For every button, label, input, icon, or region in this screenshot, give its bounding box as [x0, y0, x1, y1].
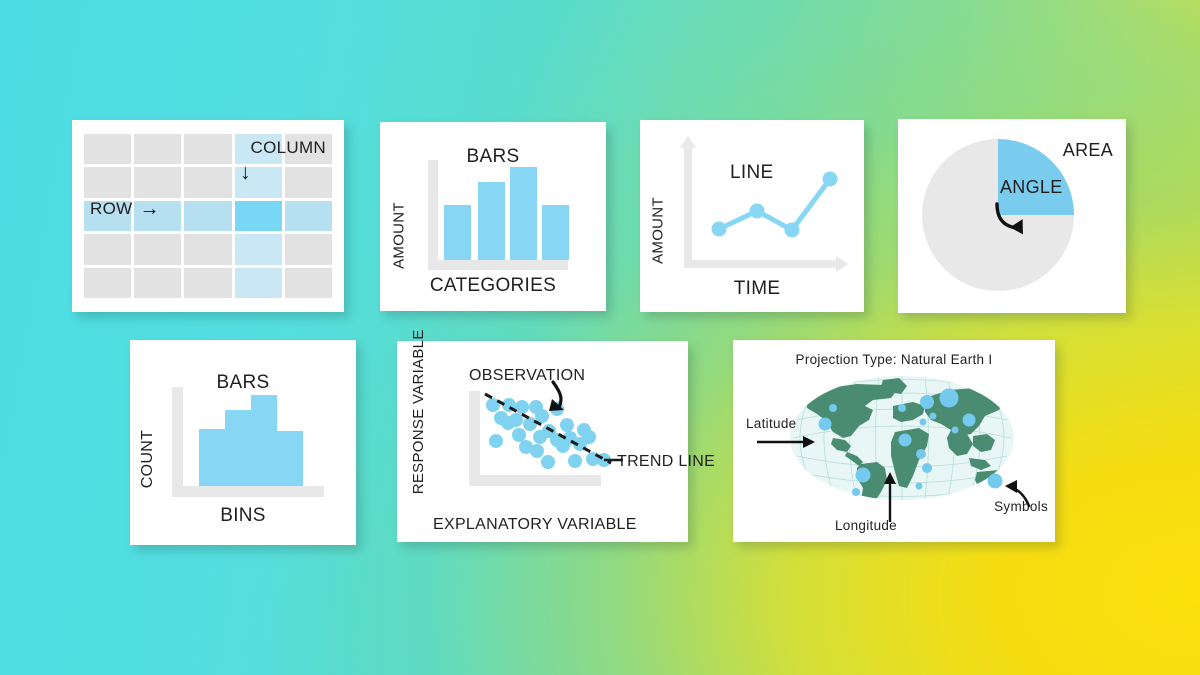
panel-table-anatomy: COLUMN ↓ ROW →	[72, 120, 344, 312]
bars-plot-area	[438, 160, 568, 260]
line-series	[719, 179, 830, 230]
panel-line-chart-anatomy: AMOUNT LINE TIME	[640, 120, 864, 312]
table-cell	[134, 134, 181, 164]
table-cell	[235, 201, 282, 231]
bars-x-axis	[428, 260, 568, 270]
table-cell	[134, 268, 181, 298]
map-symbols-label: Symbols	[994, 499, 1048, 514]
table-cell	[285, 234, 332, 264]
table-cell	[184, 134, 231, 164]
bars-y-axis-label: AMOUNT	[391, 181, 408, 291]
bar-1	[444, 205, 471, 260]
scatter-points	[486, 398, 611, 469]
panel-bar-chart-anatomy: BARS AMOUNT CATEGORIES	[380, 122, 606, 311]
line-point-2	[750, 204, 765, 219]
table-cell	[184, 268, 231, 298]
line-x-axis-label: TIME	[702, 278, 812, 300]
line-point-3	[785, 223, 800, 238]
bars-x-axis-label: CATEGORIES	[380, 275, 606, 297]
hist-x-axis-label: BINS	[130, 505, 356, 527]
hist-bar-3	[251, 395, 277, 486]
table-cell	[285, 201, 332, 231]
hist-y-axis	[172, 387, 183, 497]
table-column-label: COLUMN	[251, 138, 326, 158]
hist-bar-1	[199, 429, 225, 486]
bars-y-axis	[428, 160, 438, 270]
table-cell	[134, 234, 181, 264]
map-latitude-label: Latitude	[746, 416, 796, 431]
hist-plot-area	[183, 387, 323, 486]
panel-pie-chart-anatomy: AREA ANGLE	[898, 119, 1126, 313]
latitude-arrow-icon	[757, 436, 815, 448]
bar-4	[542, 205, 569, 260]
table-cell	[285, 268, 332, 298]
table-cell	[235, 234, 282, 264]
table-row-label: ROW →	[90, 199, 160, 219]
hist-bar-4	[277, 431, 303, 486]
scatter-trend-label: TREND LINE	[617, 453, 681, 471]
table-cell	[84, 234, 131, 264]
table-cell	[184, 167, 231, 197]
line-title: LINE	[730, 162, 773, 184]
table-cell	[285, 167, 332, 197]
table-row-text: ROW	[90, 199, 132, 219]
pie-area-label: AREA	[1063, 140, 1113, 161]
poster-canvas: COLUMN ↓ ROW → BARS AMOUNT CATEGORIES AM…	[0, 0, 1200, 675]
line-axes	[680, 136, 848, 272]
table-cell	[235, 268, 282, 298]
hist-y-axis-label: COUNT	[139, 403, 157, 515]
down-arrow-icon: ↓	[240, 162, 251, 183]
table-cell	[184, 234, 231, 264]
bar-3	[510, 167, 537, 260]
panel-scatterplot-anatomy: RESPONSE VARIABLE	[397, 341, 688, 542]
bar-2	[478, 182, 505, 260]
scatter-observation-label: OBSERVATION	[469, 367, 585, 385]
panel-map-anatomy: Projection Type: Natural Earth I	[733, 340, 1055, 542]
table-cell	[134, 167, 181, 197]
pie-angle-arrow-icon	[994, 198, 1054, 242]
table-cell	[84, 134, 131, 164]
table-cell	[84, 167, 131, 197]
table-cell	[84, 268, 131, 298]
hist-x-axis	[172, 486, 324, 497]
line-point-1	[712, 222, 727, 237]
hist-bar-2	[225, 410, 251, 486]
panel-histogram-anatomy: BARS COUNT BINS	[130, 340, 356, 545]
map-longitude-label: Longitude	[821, 518, 911, 533]
table-cell	[184, 201, 231, 231]
right-arrow-icon: →	[139, 199, 159, 219]
pie-angle-label: ANGLE	[1000, 177, 1063, 198]
scatter-x-axis-label: EXPLANATORY VARIABLE	[433, 516, 603, 534]
line-point-4	[823, 172, 838, 187]
